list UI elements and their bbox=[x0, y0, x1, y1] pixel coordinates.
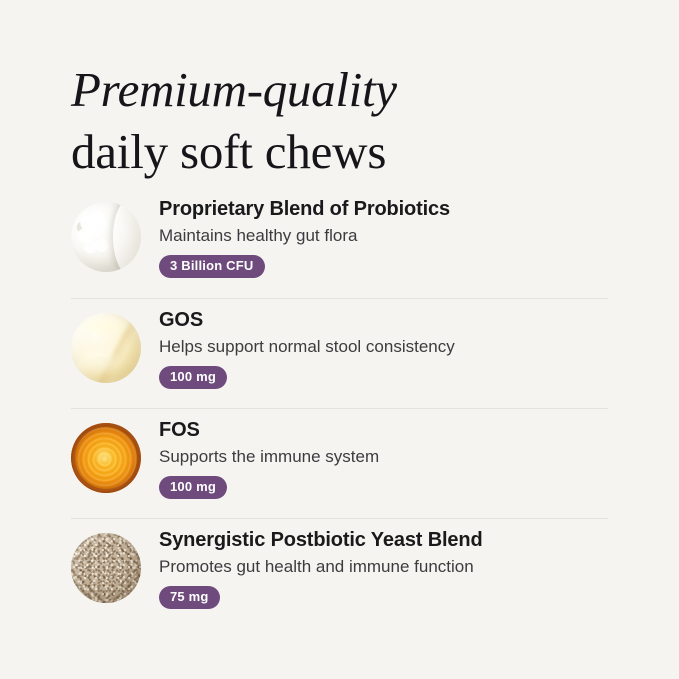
status-badge: 75 mg bbox=[159, 586, 220, 609]
status-badge: 100 mg bbox=[159, 476, 227, 499]
ingredient-title: GOS bbox=[159, 308, 608, 333]
headline-line-2: daily soft chews bbox=[71, 123, 631, 181]
ingredient-description: Promotes gut health and immune function bbox=[159, 556, 608, 578]
ingredient-list: Proprietary Blend of Probiotics Maintain… bbox=[71, 188, 608, 628]
ingredient-description: Maintains healthy gut flora bbox=[159, 225, 608, 247]
list-item: Synergistic Postbiotic Yeast Blend Promo… bbox=[71, 518, 608, 628]
ingredient-title: Synergistic Postbiotic Yeast Blend bbox=[159, 528, 608, 553]
status-badge: 100 mg bbox=[159, 366, 227, 389]
ingredient-title: FOS bbox=[159, 418, 608, 443]
ingredient-thumbnail-wrap bbox=[71, 409, 159, 493]
fos-chicory-root-slice-icon bbox=[71, 423, 141, 493]
ingredient-details: Synergistic Postbiotic Yeast Blend Promo… bbox=[159, 519, 608, 609]
list-item: Proprietary Blend of Probiotics Maintain… bbox=[71, 188, 608, 298]
list-item: GOS Helps support normal stool consisten… bbox=[71, 298, 608, 408]
page-title: Premium-quality daily soft chews bbox=[71, 61, 631, 181]
ingredient-details: FOS Supports the immune system 100 mg bbox=[159, 409, 608, 499]
ingredient-thumbnail-wrap bbox=[71, 519, 159, 603]
yeast-powder-granules-icon bbox=[71, 533, 141, 603]
headline-line-1: Premium-quality bbox=[71, 61, 631, 119]
ingredient-title: Proprietary Blend of Probiotics bbox=[159, 197, 608, 222]
status-badge: 3 Billion CFU bbox=[159, 255, 265, 278]
gos-cream-sphere-icon bbox=[71, 313, 141, 383]
ingredient-thumbnail-wrap bbox=[71, 188, 159, 272]
product-benefits-panel: Premium-quality daily soft chews Proprie… bbox=[0, 0, 679, 679]
probiotic-cluster-sphere-icon bbox=[71, 202, 141, 272]
list-item: FOS Supports the immune system 100 mg bbox=[71, 408, 608, 518]
ingredient-thumbnail-wrap bbox=[71, 299, 159, 383]
ingredient-description: Helps support normal stool consistency bbox=[159, 336, 608, 358]
ingredient-description: Supports the immune system bbox=[159, 446, 608, 468]
ingredient-details: Proprietary Blend of Probiotics Maintain… bbox=[159, 188, 608, 278]
ingredient-details: GOS Helps support normal stool consisten… bbox=[159, 299, 608, 389]
